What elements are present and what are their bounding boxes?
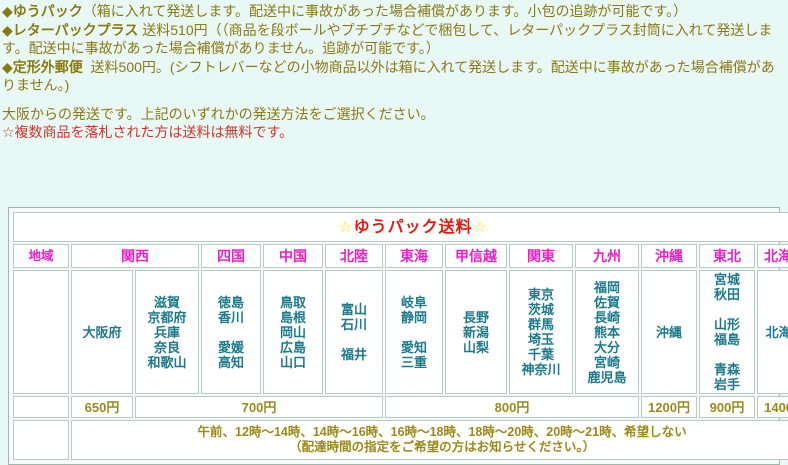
intro-line-yupack-text: （箱に入れて発送します。配送中に事故があった場合補償があります。小包の追跡が可能… [83, 3, 687, 19]
table-title-text: ゆうパック送料 [354, 219, 473, 236]
region-header-tokai: 東海 [385, 244, 443, 268]
notice-origin: 大阪からの発送です。上記のいずれかの発送方法をご選択ください。 [2, 105, 788, 124]
star-right-icon: ☆ [473, 219, 488, 236]
timeslot-row: 配達時間帯の目安 午前、12時〜14時、14時〜16時、16時〜18時、18時〜… [13, 420, 788, 460]
table-title-cell: ☆ゆうパック送料☆ [13, 212, 788, 242]
shipping-fee-table-container: ☆ゆうパック送料☆ 地域 関西 四国 中国 北陸 東海 甲信越 関東 九州 沖縄… [8, 207, 780, 465]
region-header-kansai: 関西 [71, 244, 199, 268]
shipping-notice: 大阪からの発送です。上記のいずれかの発送方法をご選択ください。 ☆複数商品を落札… [0, 105, 788, 142]
intro-line-yupack: ◆ゆうパック（箱に入れて発送します。配送中に事故があった場合補償があります。小包… [2, 2, 788, 21]
price-cell-1400: 1400円 [757, 396, 788, 418]
price-cell-650: 650円 [71, 396, 133, 418]
pref-cell-chugoku: 鳥取島根岡山広島山口 [263, 270, 323, 394]
region-header-chugoku: 中国 [263, 244, 323, 268]
prefecture-row: 都道府県 大阪府 滋賀京都府兵庫奈良和歌山 徳島香川 愛媛高知 鳥取島根岡山広島… [13, 270, 788, 394]
timeslot-cell: 午前、12時〜14時、14時〜16時、16時〜18時、18時〜20時、20時〜2… [71, 420, 788, 460]
price-cell-800: 800円 [385, 396, 639, 418]
region-header-okinawa: 沖縄 [641, 244, 697, 268]
region-header-kanto: 関東 [509, 244, 573, 268]
pref-cell-koshinetsu: 長野新潟山梨 [445, 270, 507, 394]
rowhead-size60: 60サイズ [13, 396, 69, 418]
star-left-icon: ☆ [338, 219, 353, 236]
rowhead-prefecture: 都道府県 [13, 270, 69, 394]
intro-line-yupack-label: ◆ゆうパック [2, 3, 83, 19]
region-header-koshinetsu: 甲信越 [445, 244, 507, 268]
rowhead-region: 地域 [13, 244, 69, 268]
region-header-tohoku: 東北 [699, 244, 755, 268]
price-row: 60サイズ 650円 700円 800円 1200円 900円 1400円 [13, 396, 788, 418]
region-header-shikoku: 四国 [201, 244, 261, 268]
pref-cell-osaka: 大阪府 [71, 270, 133, 394]
shipping-intro: ◆ゆうパック（箱に入れて発送します。配送中に事故があった場合補償があります。小包… [0, 0, 788, 95]
pref-cell-kyushu: 福岡佐賀長崎熊本大分宮崎鹿児島 [575, 270, 639, 394]
rowhead-timeslot-line2: 帯の目安 [16, 440, 66, 454]
pref-cell-kansai: 滋賀京都府兵庫奈良和歌山 [135, 270, 199, 394]
shipping-fee-table: ☆ゆうパック送料☆ 地域 関西 四国 中国 北陸 東海 甲信越 関東 九州 沖縄… [11, 210, 788, 462]
intro-line-letterpack: ◆レターパックプラス 送料510円（（商品を段ボールやプチプチなどで梱包して、レ… [2, 21, 788, 58]
pref-cell-hokkaido: 北海道 [757, 270, 788, 394]
timeslot-line2: （配達時間の指定をご希望の方はお知らせください。） [72, 440, 788, 455]
intro-line-teikeigai-label: ◆定形外郵便 [2, 59, 83, 75]
pref-cell-tokai: 岐阜静岡 愛知三重 [385, 270, 443, 394]
price-cell-700: 700円 [135, 396, 383, 418]
pref-cell-kanto: 東京茨城群馬埼玉千葉神奈川 [509, 270, 573, 394]
pref-cell-okinawa: 沖縄 [641, 270, 697, 394]
pref-cell-tohoku: 宮城秋田 山形福島 青森岩手 [699, 270, 755, 394]
table-title-row: ☆ゆうパック送料☆ [13, 212, 788, 242]
region-header-row: 地域 関西 四国 中国 北陸 東海 甲信越 関東 九州 沖縄 東北 北海道 [13, 244, 788, 268]
pref-cell-hokuriku: 富山石川 福井 [325, 270, 383, 394]
intro-line-letterpack-label: ◆レターパックプラス [2, 22, 138, 38]
region-header-hokuriku: 北陸 [325, 244, 383, 268]
region-header-kyushu: 九州 [575, 244, 639, 268]
intro-line-teikeigai: ◆定形外郵便 送料500円。(シフトレバーなどの小物商品以外は箱に入れて発送しま… [2, 58, 788, 95]
price-cell-900: 900円 [699, 396, 755, 418]
region-header-hokkaido: 北海道 [757, 244, 788, 268]
timeslot-line1: 午前、12時〜14時、14時〜16時、16時〜18時、18時〜20時、20時〜2… [72, 425, 788, 440]
rowhead-timeslot-line1: 配達時間 [16, 425, 66, 439]
rowhead-timeslot: 配達時間帯の目安 [13, 420, 69, 460]
pref-cell-shikoku: 徳島香川 愛媛高知 [201, 270, 261, 394]
notice-free-shipping: ☆複数商品を落札された方は送料は無料です。 [2, 123, 788, 142]
spacer [0, 95, 788, 105]
intro-line-teikeigai-text: 送料500円。(シフトレバーなどの小物商品以外は箱に入れて発送します。配送中に事… [2, 59, 775, 94]
price-cell-1200: 1200円 [641, 396, 697, 418]
